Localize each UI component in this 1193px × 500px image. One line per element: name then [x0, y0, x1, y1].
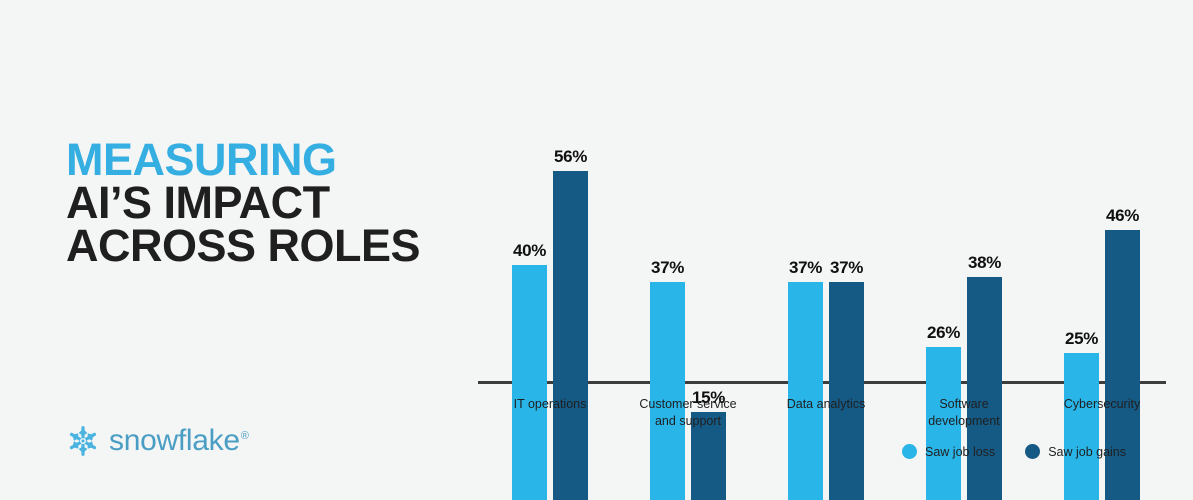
bar[interactable]: [1064, 353, 1099, 500]
bar-value-label: 46%: [1106, 206, 1139, 226]
legend-item[interactable]: Saw job gains: [1025, 444, 1126, 459]
bar-group: 37%15%: [628, 139, 748, 500]
snowflake-icon: [66, 424, 100, 458]
bar[interactable]: [553, 171, 588, 500]
bar-value-label: 37%: [830, 258, 863, 278]
bar[interactable]: [650, 282, 685, 500]
brand-wordmark: snowflake®: [109, 424, 249, 458]
category-label: Software development: [904, 396, 1024, 430]
legend-label: Saw job gains: [1048, 445, 1126, 459]
bar-value-label: 25%: [1065, 329, 1098, 349]
category-label-line: Customer service: [628, 396, 748, 413]
category-label: Cybersecurity: [1042, 396, 1162, 413]
bar-group: 40%56%: [490, 139, 610, 500]
chart-legend: Saw job lossSaw job gains: [902, 444, 1126, 459]
category-label: Data analytics: [766, 396, 886, 413]
bar[interactable]: [512, 265, 547, 500]
category-label-line: Software development: [904, 396, 1024, 430]
bar-value-label: 40%: [513, 241, 546, 261]
bar-column[interactable]: 37%: [788, 139, 823, 500]
legend-label: Saw job loss: [925, 445, 995, 459]
bar-column[interactable]: 37%: [829, 139, 864, 500]
category-label-line: Data analytics: [766, 396, 886, 413]
bar-value-label: 37%: [651, 258, 684, 278]
category-label-line: IT operations: [490, 396, 610, 413]
registered-mark: ®: [241, 430, 249, 442]
left-panel: MEASURING AI’S IMPACT ACROSS ROLES: [0, 0, 470, 500]
bar-value-label: 56%: [554, 147, 587, 167]
bar[interactable]: [829, 282, 864, 500]
bar-value-label: 38%: [968, 253, 1001, 273]
bar-chart: 40%56%37%15%37%37%26%38%25%46% IT operat…: [478, 0, 1168, 500]
headline-line-1: MEASURING: [66, 138, 420, 181]
bar-column[interactable]: 15%: [691, 139, 726, 500]
category-label-line: and support: [628, 413, 748, 430]
bar[interactable]: [967, 277, 1002, 500]
category-label: IT operations: [490, 396, 610, 413]
brand-name: snowflake: [109, 424, 240, 457]
bar[interactable]: [1105, 230, 1140, 500]
legend-color-swatch: [1025, 444, 1040, 459]
bar-column[interactable]: 37%: [650, 139, 685, 500]
bar-group: 37%37%: [766, 139, 886, 500]
page-title: MEASURING AI’S IMPACT ACROSS ROLES: [66, 138, 420, 268]
headline-line-2: AI’S IMPACT: [66, 181, 420, 224]
brand-logo: snowflake®: [66, 424, 249, 458]
headline-line-3: ACROSS ROLES: [66, 224, 420, 267]
legend-color-swatch: [902, 444, 917, 459]
legend-item[interactable]: Saw job loss: [902, 444, 995, 459]
bar[interactable]: [788, 282, 823, 500]
bar-column[interactable]: 56%: [553, 139, 588, 500]
bar-value-label: 26%: [927, 323, 960, 343]
category-label-line: Cybersecurity: [1042, 396, 1162, 413]
bar-value-label: 37%: [789, 258, 822, 278]
category-label: Customer serviceand support: [628, 396, 748, 430]
bar-column[interactable]: 40%: [512, 139, 547, 500]
